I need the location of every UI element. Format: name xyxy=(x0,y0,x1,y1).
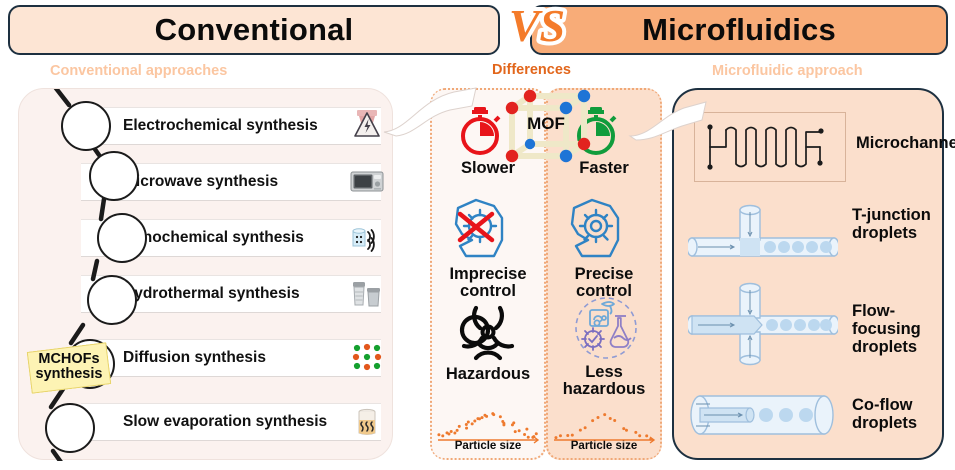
particle-size-chart-conventional xyxy=(436,410,540,444)
method-row[interactable]: Electrochemical synthesis xyxy=(81,107,381,145)
electrical-hazard-icon xyxy=(349,107,385,143)
method-label: Hydrothermal synthesis xyxy=(123,285,300,303)
flow-focusing-line1: Flow-focusing xyxy=(852,302,942,338)
hazardous-cell: Hazardous xyxy=(430,366,546,383)
method-label: Microwave synthesis xyxy=(123,173,278,191)
hand-gear-icon xyxy=(566,194,642,264)
method-label: Slow evaporation synthesis xyxy=(123,413,327,431)
subtitle-differences: Differences xyxy=(492,62,571,78)
header-conventional: Conventional xyxy=(8,5,500,55)
microfluidic-approach-panel: Microchannels T-junc xyxy=(672,88,944,460)
chain-node xyxy=(87,275,137,325)
t-junction-icon xyxy=(688,194,838,266)
green-chemistry-icon xyxy=(566,294,646,366)
ultrasound-waves-icon xyxy=(349,219,385,255)
t-junction-line2: droplets xyxy=(852,224,931,242)
biohazard-icon xyxy=(456,302,520,364)
less-hazardous-line1: Less xyxy=(546,364,662,381)
imprecise-line2: control xyxy=(430,283,546,300)
precise-line1: Precise xyxy=(546,266,662,283)
header-microfluidics-label: Microfluidics xyxy=(642,12,836,48)
co-flow-icon xyxy=(688,382,838,448)
t-junction-label-cell: T-junction droplets xyxy=(852,206,931,242)
co-flow-line2: droplets xyxy=(852,414,917,432)
method-row[interactable]: Slow evaporation synthesis xyxy=(81,403,381,441)
method-label: Diffusion synthesis xyxy=(123,349,266,367)
chain-node xyxy=(61,101,111,151)
method-label: Electrochemical synthesis xyxy=(123,117,318,135)
mchofs-synthesis-badge: MCHOFs synthesis xyxy=(23,341,115,393)
mchofs-line1: MCHOFs xyxy=(38,352,99,367)
subtitle-microfluidic: Microfluidic approach xyxy=(712,63,863,79)
mof-label: MOF xyxy=(492,114,600,134)
less-hazardous-cell: Less hazardous xyxy=(546,364,662,399)
particle-size-chart-microfluidic xyxy=(552,410,656,444)
method-label: Sonochemical synthesis xyxy=(123,229,304,247)
co-flow-line1: Co-flow xyxy=(852,396,917,414)
header-conventional-label: Conventional xyxy=(155,12,354,48)
chain-node xyxy=(97,213,147,263)
chain-node xyxy=(45,403,95,453)
chain-node xyxy=(89,151,139,201)
co-flow-label-cell: Co-flow droplets xyxy=(852,396,917,432)
microchannels-label-cell: Microchannels xyxy=(856,134,955,152)
microchannels-label: Microchannels xyxy=(856,134,955,152)
hand-gear-crossed-icon xyxy=(450,194,526,264)
imprecise-line1: Imprecise xyxy=(430,266,546,283)
less-hazardous-line2: hazardous xyxy=(546,381,662,398)
t-junction-line1: T-junction xyxy=(852,206,931,224)
flow-focusing-line2: droplets xyxy=(852,338,942,356)
differences-panel: Slower Faster xyxy=(430,88,662,460)
flow-focusing-label-cell: Flow-focusing droplets xyxy=(852,302,942,356)
subtitle-conventional: Conventional approaches xyxy=(50,63,227,79)
imprecise-control-cell: Imprecise control xyxy=(430,266,546,301)
evaporation-beaker-icon xyxy=(349,403,385,439)
infographic-canvas: Conventional Microfluidics VS VS Convent… xyxy=(0,0,955,470)
flow-focusing-icon xyxy=(688,280,838,372)
autoclave-vessel-icon xyxy=(349,275,385,311)
header-microfluidics: Microfluidics xyxy=(530,5,948,55)
diffusing-particles-icon xyxy=(349,339,385,375)
hazardous-label: Hazardous xyxy=(430,366,546,383)
mchofs-line2: synthesis xyxy=(36,367,103,382)
serpentine-microchannel-icon xyxy=(704,122,836,172)
method-row[interactable]: Diffusion synthesis xyxy=(81,339,381,377)
mof-structure-icon: MOF xyxy=(492,88,600,174)
microwave-oven-icon xyxy=(349,163,385,199)
conventional-methods-panel: Electrochemical synthesis Microwave synt… xyxy=(18,88,393,460)
